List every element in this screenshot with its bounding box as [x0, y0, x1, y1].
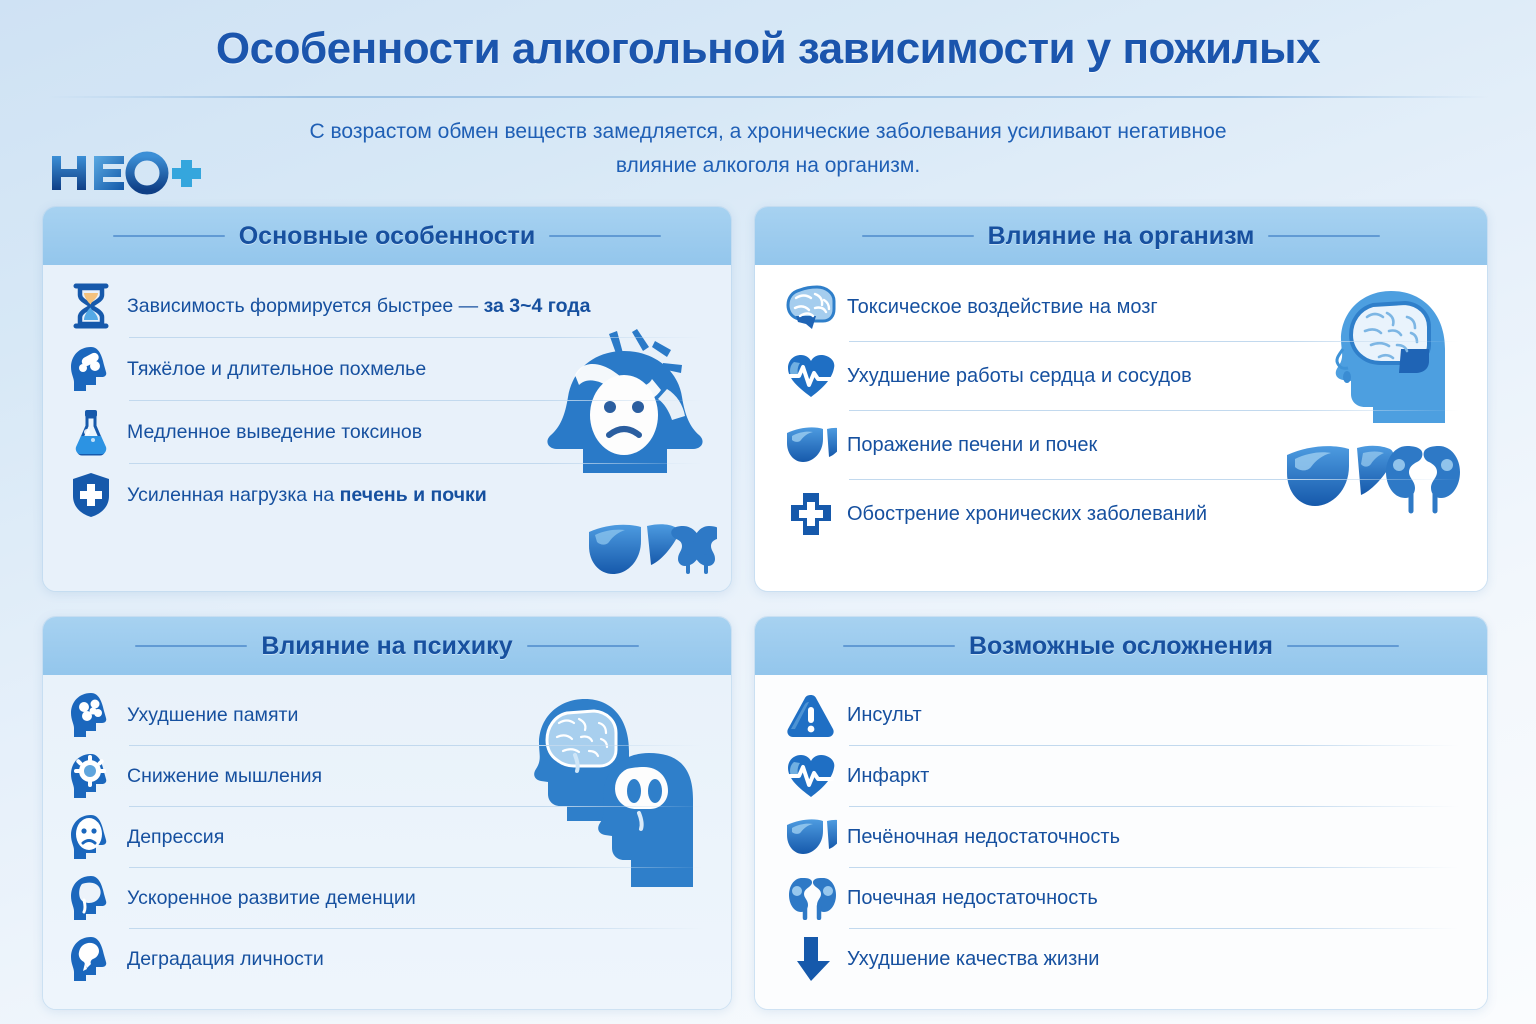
card-4-body: Инсульт Инфаркт — [755, 675, 1487, 1009]
header-rule-left — [113, 235, 225, 237]
card-4-header: Возможные осложнения — [755, 617, 1487, 675]
list-item-label: Инсульт — [847, 704, 922, 727]
heart-pulse-icon — [785, 750, 837, 802]
list-item[interactable]: Деградация личности — [65, 929, 709, 989]
list-item[interactable]: Усиленная нагрузка на печень и почки — [65, 464, 709, 526]
kidney-icon — [785, 872, 837, 924]
liver-kidney-illustration — [585, 518, 717, 585]
card-4-list: Инсульт Инфаркт — [755, 675, 1487, 989]
header-rule-right — [549, 235, 661, 237]
list-item[interactable]: Поражение печени и почек — [785, 411, 1465, 479]
list-item[interactable]: Ухудшение качества жизни — [785, 929, 1465, 989]
list-item-label: Почечная недостаточность — [847, 887, 1098, 910]
down-arrow-icon — [785, 933, 837, 985]
sad-face-head-icon — [65, 811, 117, 863]
list-item-label: Поражение печени и почек — [847, 434, 1097, 457]
list-item-label: Печёночная недостаточность — [847, 826, 1120, 849]
card-2-header: Влияние на организм — [755, 207, 1487, 265]
list-item[interactable]: Тяжёлое и длительное похмелье — [65, 338, 709, 400]
heart-pulse-icon — [785, 350, 837, 402]
header-rule-left — [135, 645, 247, 647]
list-item[interactable]: Инфаркт — [785, 746, 1465, 806]
list-item[interactable]: Снижение мышления — [65, 746, 709, 806]
shield-cross-icon — [65, 469, 117, 521]
list-item-label: Деградация личности — [127, 948, 324, 971]
card-3-header: Влияние на психику — [43, 617, 731, 675]
card-vozmozhnye-oslozhneniya: Возможные осложнения Инсульт — [754, 616, 1488, 1010]
list-item[interactable]: Ухудшение памяти — [65, 685, 709, 745]
card-1-header: Основные особенности — [43, 207, 731, 265]
list-item-label: Тяжёлое и длительное похмелье — [127, 358, 426, 381]
list-item-label: Токсическое воздействие на мозг — [847, 296, 1158, 319]
list-item-label: Ухудшение памяти — [127, 704, 298, 727]
list-item-label: Усиленная нагрузка на печень и почки — [127, 484, 487, 507]
card-osnovnye-osobennosti: Основные особенности — [42, 206, 732, 592]
title-divider — [48, 96, 1488, 98]
card-1-list: Зависимость формируется быстрее — за 3~4… — [43, 265, 731, 526]
liver-icon — [785, 419, 837, 471]
card-3-title: Влияние на психику — [261, 632, 512, 661]
head-pills-icon — [65, 343, 117, 395]
card-3-list: Ухудшение памяти — [43, 675, 731, 989]
header-rule-right — [527, 645, 639, 647]
list-item-label: Снижение мышления — [127, 765, 322, 788]
liver-icon — [785, 811, 837, 863]
head-fading-brain-icon — [65, 872, 117, 924]
list-item-label: Ускоренное развитие деменции — [127, 887, 416, 910]
header-rule-right — [1287, 645, 1399, 647]
header-rule-right — [1268, 235, 1380, 237]
neo-plus-logo — [50, 150, 210, 196]
card-2-list: Токсическое воздействие на мозг Ухудшени… — [755, 265, 1487, 548]
list-item-label: Медленное выведение токсинов — [127, 421, 422, 444]
card-2-title: Влияние на организм — [988, 222, 1255, 251]
list-item-label: Обострение хронических заболеваний — [847, 503, 1207, 526]
list-item[interactable]: Печёночная недостаточность — [785, 807, 1465, 867]
card-vliyanie-na-organizm: Влияние на организм — [754, 206, 1488, 592]
list-item-label: Ухудшение работы сердца и сосудов — [847, 365, 1192, 388]
flask-icon — [65, 406, 117, 458]
list-item[interactable]: Ускоренное развитие деменции — [65, 868, 709, 928]
list-item[interactable]: Зависимость формируется быстрее — за 3~4… — [65, 275, 709, 337]
card-1-body: Зависимость формируется быстрее — за 3~4… — [43, 265, 731, 591]
list-item-label: Зависимость формируется быстрее — за 3~4… — [127, 295, 591, 318]
card-vliyanie-na-psihiku: Влияние на психику — [42, 616, 732, 1010]
list-item[interactable]: Ухудшение работы сердца и сосудов — [785, 342, 1465, 410]
list-item[interactable]: Почечная недостаточность — [785, 868, 1465, 928]
head-memory-icon — [65, 689, 117, 741]
hourglass-icon — [65, 280, 117, 332]
header-rule-left — [843, 645, 955, 647]
card-4-title: Возможные осложнения — [969, 632, 1273, 661]
list-item[interactable]: Токсическое воздействие на мозг — [785, 273, 1465, 341]
warning-triangle-icon — [785, 689, 837, 741]
list-item[interactable]: Медленное выведение токсинов — [65, 401, 709, 463]
list-item-label: Инфаркт — [847, 765, 929, 788]
card-1-title: Основные особенности — [239, 222, 536, 251]
page-subtitle: С возрастом обмен веществ замедляется, а… — [268, 115, 1268, 183]
list-item-label: Ухудшение качества жизни — [847, 948, 1099, 971]
head-gear-icon — [65, 750, 117, 802]
header-rule-left — [862, 235, 974, 237]
list-item[interactable]: Обострение хронических заболеваний — [785, 480, 1465, 548]
page-title: Особенности алкогольной зависимости у по… — [0, 24, 1536, 74]
medical-cross-icon — [785, 488, 837, 540]
list-item[interactable]: Инсульт — [785, 685, 1465, 745]
brain-icon — [785, 281, 837, 333]
list-item-label: Депрессия — [127, 826, 224, 849]
head-degradation-icon — [65, 933, 117, 985]
card-3-body: Ухудшение памяти — [43, 675, 731, 1009]
card-2-body: Токсическое воздействие на мозг Ухудшени… — [755, 265, 1487, 591]
list-item[interactable]: Депрессия — [65, 807, 709, 867]
